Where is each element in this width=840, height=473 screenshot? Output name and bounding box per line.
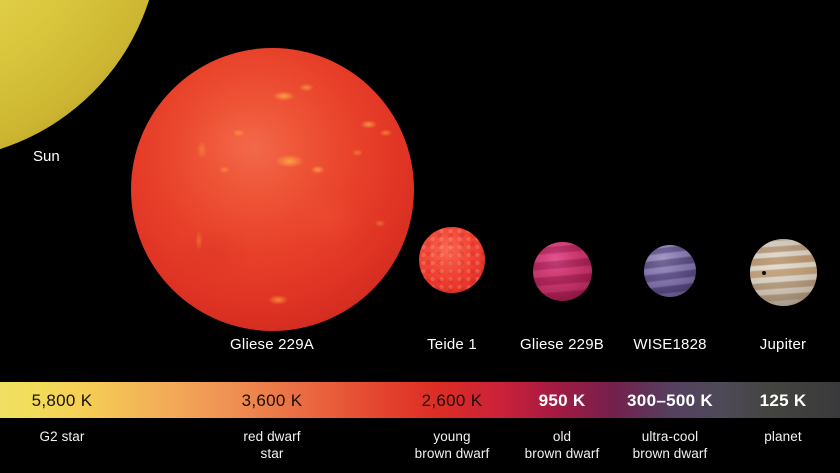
orb-sun bbox=[0, 0, 160, 160]
temperature-label-gliese-229a: 3,600 K bbox=[242, 391, 303, 411]
category-label-gliese-229b: oldbrown dwarf bbox=[525, 428, 600, 462]
orb-gliese-229a bbox=[131, 48, 414, 331]
orb-gliese-229b bbox=[533, 242, 592, 301]
category-label-teide-1: youngbrown dwarf bbox=[415, 428, 490, 462]
object-label-jupiter: Jupiter bbox=[760, 336, 806, 353]
temperature-label-teide-1: 2,600 K bbox=[422, 391, 483, 411]
orb-teide-1 bbox=[419, 227, 485, 293]
temperature-label-jupiter: 125 K bbox=[760, 391, 807, 411]
temperature-gradient-bar bbox=[0, 382, 840, 418]
category-label-wise-1828: ultra-coolbrown dwarf bbox=[633, 428, 708, 462]
orb-wise-1828 bbox=[644, 245, 696, 297]
category-label-sun: G2 star bbox=[40, 428, 85, 445]
category-label-gliese-229a: red dwarfstar bbox=[243, 428, 300, 462]
temperature-label-wise-1828: 300–500 K bbox=[627, 391, 713, 411]
orb-jupiter bbox=[750, 239, 817, 306]
object-label-sun: Sun bbox=[33, 148, 60, 165]
object-field bbox=[0, 0, 840, 382]
temperature-label-sun: 5,800 K bbox=[32, 391, 93, 411]
object-label-gliese-229b: Gliese 229B bbox=[520, 336, 604, 353]
category-label-jupiter: planet bbox=[764, 428, 801, 445]
object-label-teide-1: Teide 1 bbox=[427, 336, 477, 353]
infographic-root: Sun Gliese 229A Teide 1 Gliese 229B WISE… bbox=[0, 0, 840, 473]
temperature-label-gliese-229b: 950 K bbox=[539, 391, 586, 411]
object-label-wise-1828: WISE1828 bbox=[633, 336, 706, 353]
object-label-gliese-229a: Gliese 229A bbox=[230, 336, 314, 353]
